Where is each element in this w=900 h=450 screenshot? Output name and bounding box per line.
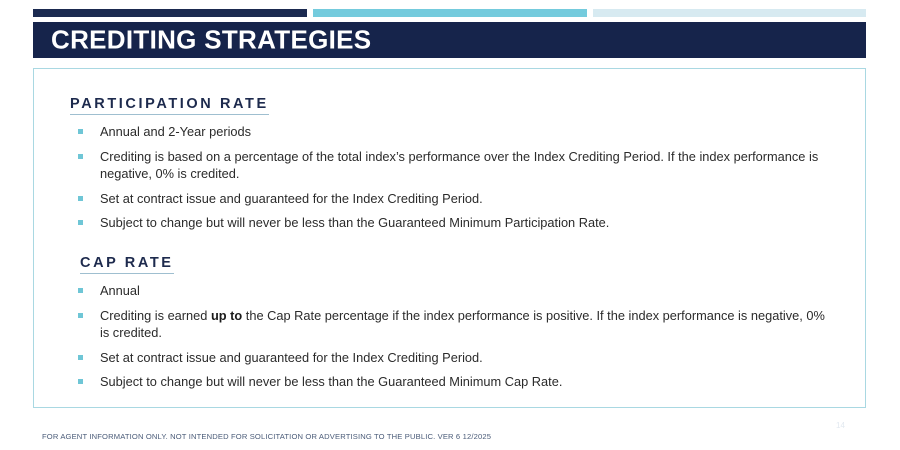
- top-accent-rule: [0, 9, 900, 17]
- list-item: Annual and 2-Year periods: [72, 123, 825, 141]
- bullet-square-icon: [78, 355, 83, 360]
- bullet-list-participation-rate: Annual and 2-Year periods Crediting is b…: [34, 123, 865, 232]
- content-panel: PARTICIPATION RATE Annual and 2-Year per…: [33, 68, 866, 408]
- page-number: 14: [836, 421, 845, 430]
- list-item: Annual: [72, 282, 825, 300]
- accent-segment-navy: [33, 9, 307, 17]
- list-item-text: Set at contract issue and guaranteed for…: [100, 191, 483, 206]
- list-item-text-pre: Crediting is earned: [100, 308, 211, 323]
- page-title: CREDITING STRATEGIES: [51, 25, 371, 56]
- bullet-list-cap-rate: Annual Crediting is earned up to the Cap…: [34, 282, 865, 391]
- list-item-text: Crediting is based on a percentage of th…: [100, 149, 818, 182]
- list-item-text: Annual and 2-Year periods: [100, 124, 251, 139]
- list-item-text: Subject to change but will never be less…: [100, 374, 562, 389]
- list-item-text: Subject to change but will never be less…: [100, 215, 609, 230]
- section-heading-participation-rate: PARTICIPATION RATE: [70, 96, 269, 115]
- bullet-square-icon: [78, 379, 83, 384]
- section-participation-rate: PARTICIPATION RATE Annual and 2-Year per…: [34, 95, 865, 239]
- section-heading-cap-rate: CAP RATE: [80, 255, 174, 274]
- bullet-square-icon: [78, 196, 83, 201]
- bullet-square-icon: [78, 220, 83, 225]
- list-item: Subject to change but will never be less…: [72, 373, 825, 391]
- list-item: Set at contract issue and guaranteed for…: [72, 190, 825, 208]
- list-item: Set at contract issue and guaranteed for…: [72, 349, 825, 367]
- list-item-text: Annual: [100, 283, 140, 298]
- footer-disclaimer: FOR AGENT INFORMATION ONLY. NOT INTENDED…: [42, 432, 491, 441]
- title-banner: CREDITING STRATEGIES: [33, 22, 866, 58]
- list-item-text-emphasis: up to: [211, 308, 242, 323]
- accent-segment-pale: [593, 9, 866, 17]
- accent-segment-cyan: [313, 9, 587, 17]
- list-item: Crediting is based on a percentage of th…: [72, 148, 825, 183]
- bullet-square-icon: [78, 288, 83, 293]
- slide-root: { "top_rule": { "segments": [ { "name": …: [0, 0, 900, 450]
- bullet-square-icon: [78, 313, 83, 318]
- list-item-text: Set at contract issue and guaranteed for…: [100, 350, 483, 365]
- bullet-square-icon: [78, 129, 83, 134]
- bullet-square-icon: [78, 154, 83, 159]
- list-item: Crediting is earned up to the Cap Rate p…: [72, 307, 825, 342]
- section-cap-rate: CAP RATE Annual Crediting is earned up t…: [34, 254, 865, 398]
- list-item: Subject to change but will never be less…: [72, 214, 825, 232]
